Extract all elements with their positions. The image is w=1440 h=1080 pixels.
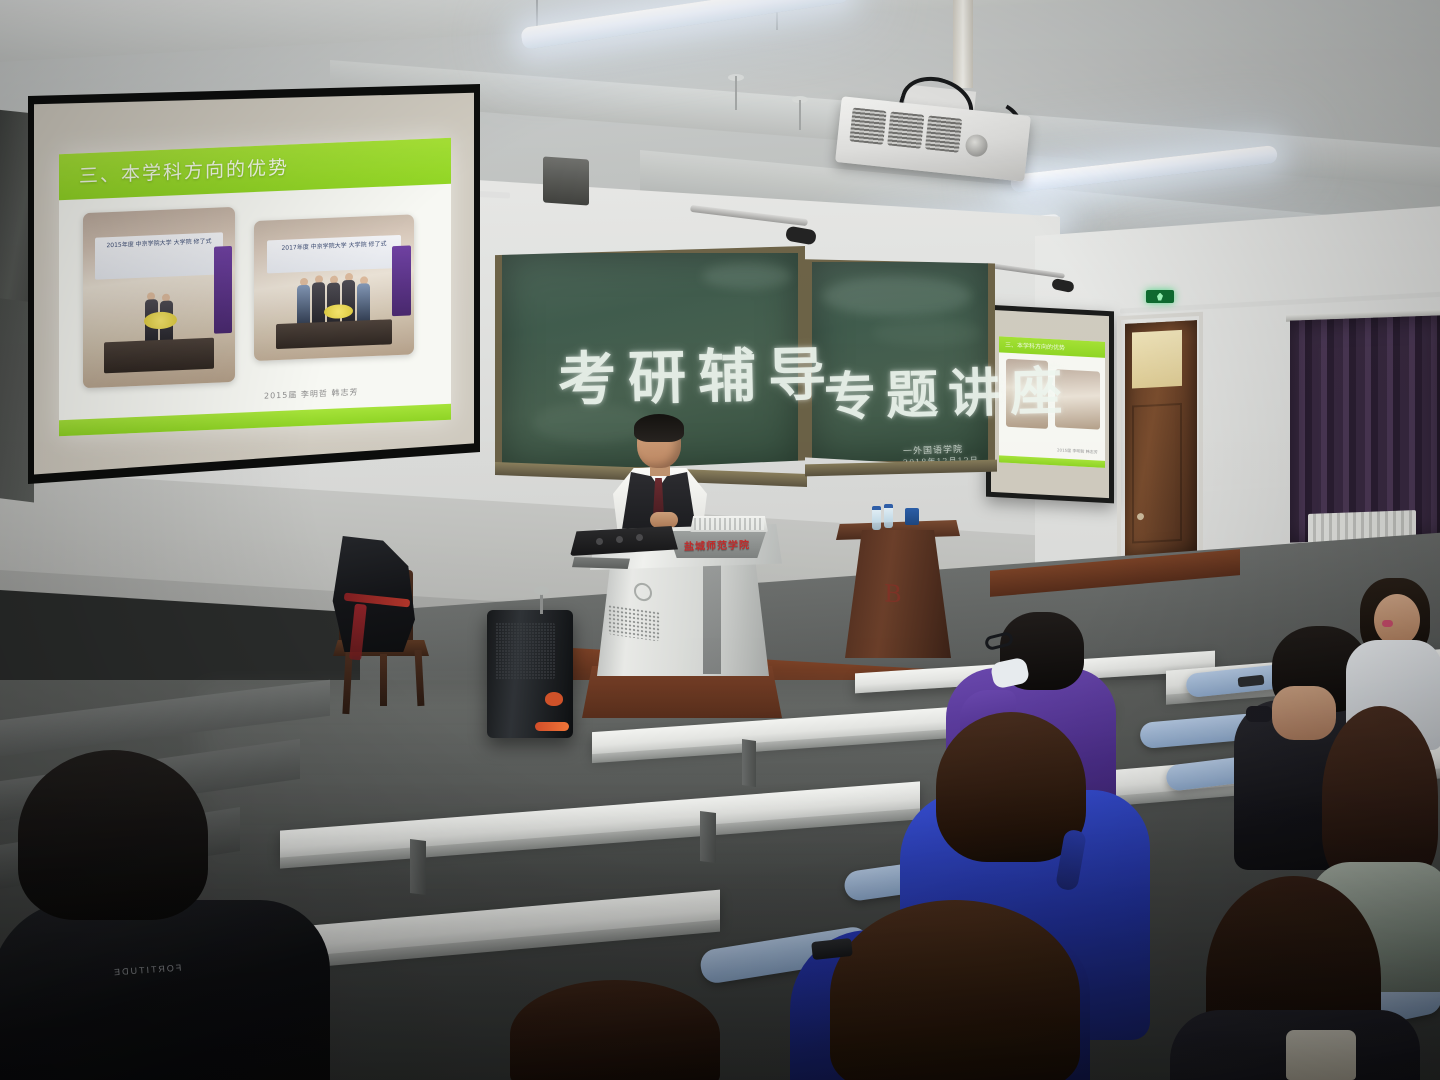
podium-stripe [703,562,721,674]
blackboard-headline-right: 专题讲座 [823,349,1073,430]
speaker-grille [495,622,555,680]
door-panel [1132,403,1182,544]
control-knob[interactable] [596,538,603,545]
window-curtain[interactable] [1290,315,1440,542]
speaker-badge [535,722,569,731]
slide-photo-person [297,278,310,326]
lecture-hall-scene: 三、本学科方向的优势 2015年度 中京学院大学 大学院 修了式 2017年度 … [0,0,1440,1080]
door-window [1132,330,1182,389]
secondary-slide-bottom-bar [999,455,1105,468]
control-knob[interactable] [616,536,623,543]
lectern-emblem: B [884,579,902,608]
speaker-antenna-top [534,586,549,595]
slide-caption: 2015届 李明哲 韩志芳 [264,387,358,402]
projector-mount-pole [953,0,973,88]
blue-cup[interactable] [905,508,919,525]
slide-photo-1-flag [214,245,232,333]
light-hanger [735,76,737,110]
slide-photo-person [312,275,325,325]
light-hanger [799,100,801,130]
presenter-hair [634,414,684,442]
projection-screen: 三、本学科方向的优势 2015年度 中京学院大学 大学院 修了式 2017年度 … [34,92,474,476]
speaker-logo [545,692,563,706]
projector-vent [925,115,962,152]
projector-vent [849,107,886,144]
podium-drawer[interactable] [572,557,630,569]
lips [1382,620,1393,627]
projector-lens [964,133,988,157]
slide-photo-1-table [104,337,213,373]
slide-photo-person [357,277,370,324]
podium-nameplate-text: 盐城师范学院 [684,536,750,553]
slide-photo-2-table [276,319,391,349]
podium-nameplate: 盐城师范学院 [661,531,773,558]
wrist-watch [1246,706,1272,722]
secondary-slide-caption: 2015届 李明哲 韩志芳 [1057,447,1098,455]
projector-vent [887,111,924,148]
exit-sign [1146,290,1174,303]
desk-leg [742,739,756,787]
presenter-hands [650,512,678,528]
presentation-slide: 三、本学科方向的优势 2015年度 中京学院大学 大学院 修了式 2017年度 … [59,138,451,436]
desk-leg [700,811,716,863]
desk-leg [410,839,426,895]
podium-keyboard[interactable] [690,516,768,532]
blackboard-headline-left: 考研辅导 [557,327,839,417]
chair-leg [380,654,387,706]
keyboard-keys [694,518,764,530]
water-bottle[interactable] [872,506,881,530]
slide-photo-1: 2015年度 中京学院大学 大学院 修了式 [83,207,235,388]
slide-bottom-bar [59,404,451,436]
slide-photo-2-flag [392,245,411,316]
hands-on-face [1272,686,1336,740]
control-knob[interactable] [636,534,643,541]
wall-speaker [543,156,589,205]
running-man-icon [1157,293,1163,301]
classroom-door[interactable] [1125,320,1197,556]
slide-photo-1-people [110,267,207,345]
slide-photo-2: 2017年度 中京学院大学 大学院 修了式 [254,214,414,361]
speaker-antenna [540,592,543,614]
portable-pa-speaker [487,610,573,738]
paper-cup-on-desk[interactable] [1286,1030,1356,1080]
water-bottle[interactable] [884,504,893,528]
